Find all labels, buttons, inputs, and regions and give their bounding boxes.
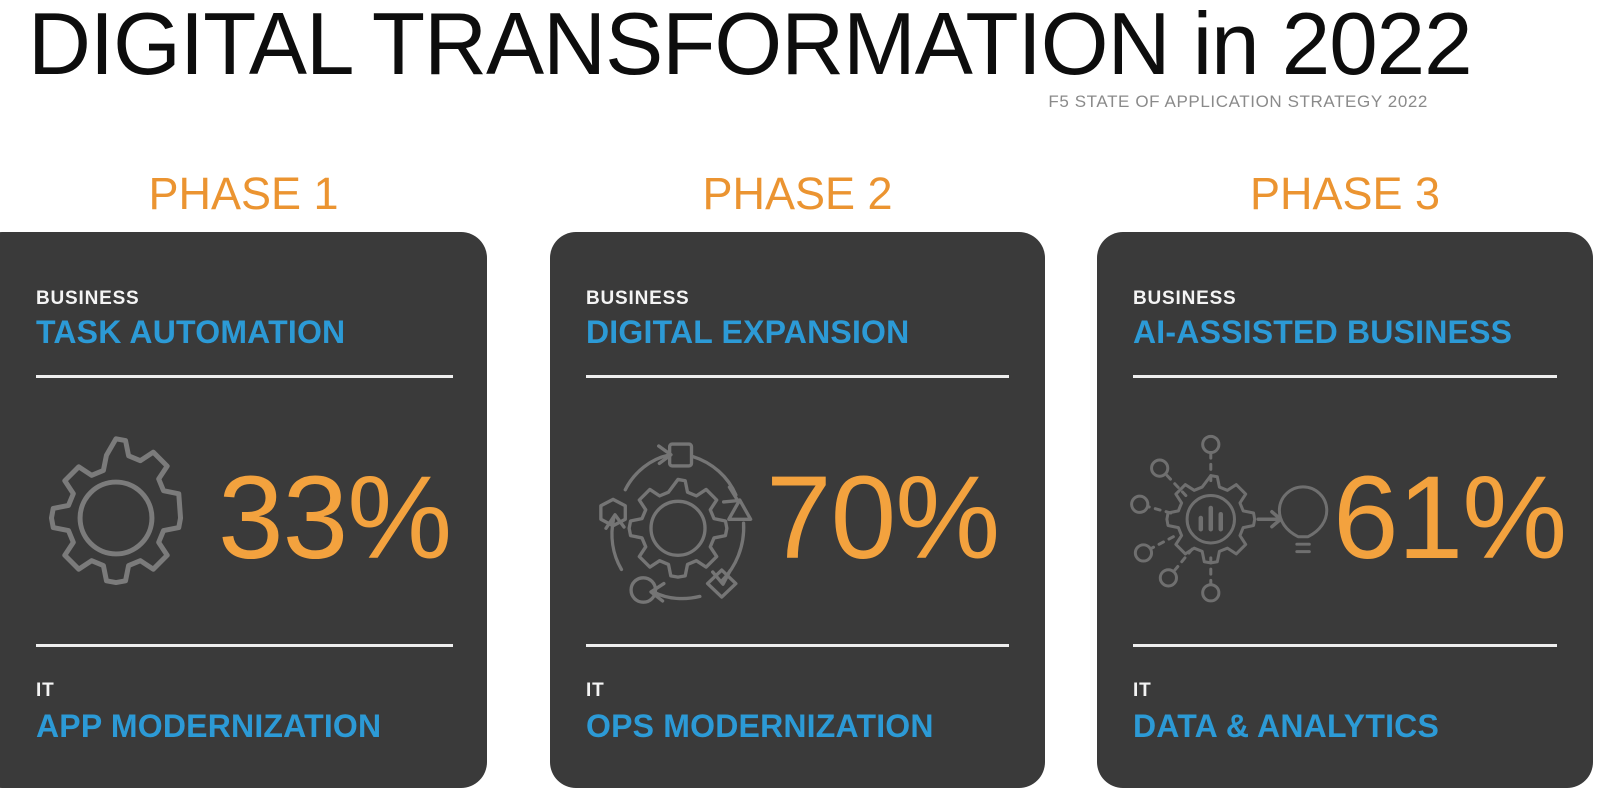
business-headline-2: DIGITAL EXPANSION [586, 314, 909, 351]
phase-label-1: PHASE 1 [0, 168, 487, 220]
page-title: DIGITAL TRANSFORMATION in 2022 [28, 0, 1472, 94]
stat-row-1: 33% [28, 408, 463, 628]
page-subtitle: F5 STATE OF APPLICATION STRATEGY 2022 [1048, 92, 1428, 112]
it-eyebrow-3: IT [1133, 680, 1152, 702]
phase-card-2: BUSINESS DIGITAL EXPANSION [550, 232, 1045, 788]
business-headline-3: AI-ASSISTED BUSINESS [1133, 314, 1512, 351]
divider-bottom-3 [1133, 644, 1557, 647]
it-eyebrow-1: IT [36, 680, 55, 702]
infographic-page: DIGITAL TRANSFORMATION in 2022 F5 STATE … [0, 0, 1600, 788]
business-headline-1: TASK AUTOMATION [36, 314, 345, 351]
it-headline-3: DATA & ANALYTICS [1133, 708, 1439, 745]
it-headline-2: OPS MODERNIZATION [586, 708, 934, 745]
phase-card-3: BUSINESS AI-ASSISTED BUSINESS [1097, 232, 1593, 788]
ai-insight-icon [1121, 428, 1333, 608]
divider-top-3 [1133, 375, 1557, 378]
business-eyebrow-1: BUSINESS [36, 288, 140, 310]
gear-icon [28, 430, 204, 606]
percent-value-1: 33% [204, 459, 463, 577]
phase-label-3: PHASE 3 [1097, 168, 1593, 220]
header: DIGITAL TRANSFORMATION in 2022 F5 STATE … [0, 0, 1600, 130]
divider-top-2 [586, 375, 1009, 378]
it-headline-1: APP MODERNIZATION [36, 708, 381, 745]
it-eyebrow-2: IT [586, 680, 605, 702]
divider-bottom-1 [36, 644, 453, 647]
percent-value-3: 61% [1333, 459, 1569, 577]
stat-row-2: 70% [586, 408, 1021, 628]
divider-top-1 [36, 375, 453, 378]
percent-value-2: 70% [762, 459, 1021, 577]
business-eyebrow-3: BUSINESS [1133, 288, 1237, 310]
gear-cycle-icon [594, 428, 762, 608]
stat-row-3: 61% [1117, 408, 1569, 628]
business-eyebrow-2: BUSINESS [586, 288, 690, 310]
phase-label-2: PHASE 2 [550, 168, 1045, 220]
phase-card-1: BUSINESS TASK AUTOMATION 33% IT APP MODE… [0, 232, 487, 788]
divider-bottom-2 [586, 644, 1009, 647]
